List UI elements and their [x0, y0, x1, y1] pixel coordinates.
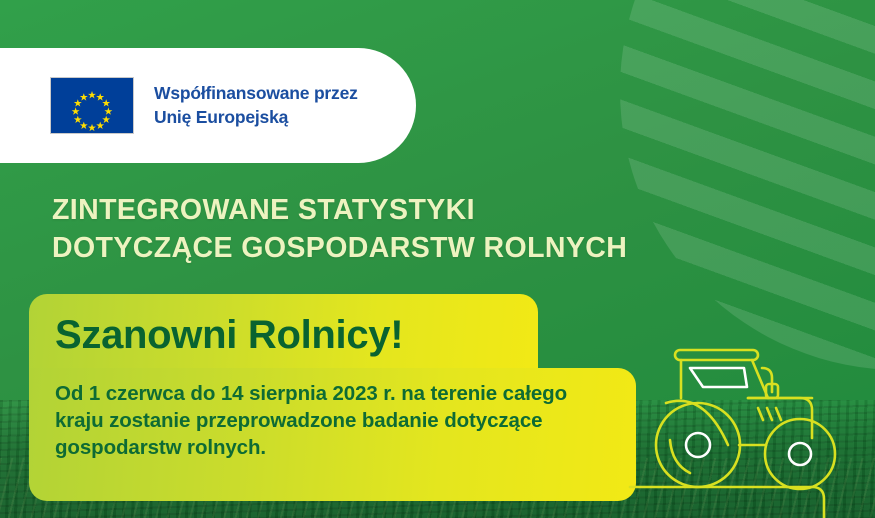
tractor-rear-hub [686, 433, 710, 457]
tractor-vent-line [776, 408, 781, 420]
poster-canvas: Współfinansowane przez Unię Europejską Z… [0, 0, 875, 518]
callout-heading: Szanowni Rolnicy! [55, 314, 610, 356]
eu-funding-badge: Współfinansowane przez Unię Europejską [0, 48, 416, 163]
tractor-window [690, 368, 747, 387]
eu-funding-label: Współfinansowane przez Unię Europejską [154, 82, 358, 129]
tractor-cabin-roof [675, 350, 758, 360]
tractor-front-wheel [765, 419, 835, 489]
tractor-front-hub [789, 443, 811, 465]
diagonal-stripes-pattern [620, 0, 875, 370]
callout-panel: Szanowni Rolnicy! Od 1 czerwca do 14 sie… [29, 294, 636, 501]
tractor-illustration [640, 330, 875, 518]
tractor-vent-line [758, 408, 763, 420]
eu-flag-icon [50, 77, 134, 134]
diagonal-stripes-circle [620, 0, 875, 370]
callout-body-text: Od 1 czerwca do 14 sierpnia 2023 r. na t… [55, 380, 610, 461]
tractor-ground-line [630, 487, 824, 518]
page-title: ZINTEGROWANE STATYSTYKI DOTYCZĄCE GOSPOD… [52, 192, 627, 268]
tractor-vent-line [767, 408, 772, 420]
callout-content: Szanowni Rolnicy! Od 1 czerwca do 14 sie… [29, 294, 636, 501]
